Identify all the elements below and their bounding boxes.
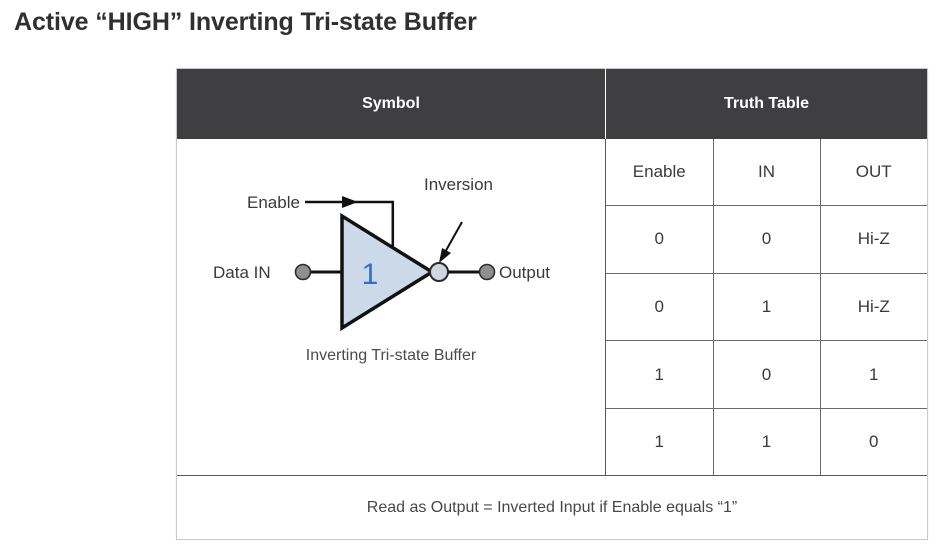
page-title: Active “HIGH” Inverting Tri-state Buffer bbox=[14, 8, 477, 37]
comparison-table: Symbol Truth Table Enable Data I bbox=[176, 68, 928, 540]
table-row: 0 1 Hi-Z bbox=[606, 273, 927, 341]
inversion-bubble-icon bbox=[430, 263, 448, 281]
enable-label: Enable bbox=[247, 193, 300, 212]
cell-out: 1 bbox=[820, 341, 927, 409]
table-body-row: Enable Data IN 1 Output bbox=[177, 139, 927, 476]
cell-enable: 1 bbox=[606, 341, 713, 409]
inversion-label: Inversion bbox=[424, 175, 493, 194]
header-cell-truth-table: Truth Table bbox=[606, 69, 927, 139]
table-header-row: Symbol Truth Table bbox=[177, 69, 927, 139]
inversion-callout-arrow-icon bbox=[439, 222, 462, 263]
column-header-out: OUT bbox=[820, 139, 927, 205]
cell-in: 1 bbox=[713, 409, 820, 475]
symbol-caption: Inverting Tri-state Buffer bbox=[306, 347, 477, 364]
cell-out: 0 bbox=[820, 409, 927, 475]
column-header-enable: Enable bbox=[606, 139, 713, 205]
cell-enable: 0 bbox=[606, 273, 713, 341]
truth-table-grid: Enable IN OUT 0 0 Hi-Z 0 1 Hi-Z bbox=[606, 139, 927, 475]
cell-out: Hi-Z bbox=[820, 273, 927, 341]
cell-in: 1 bbox=[713, 273, 820, 341]
cell-in: 0 bbox=[713, 341, 820, 409]
column-header-in: IN bbox=[713, 139, 820, 205]
buffer-triangle bbox=[342, 216, 432, 328]
table-row: 1 1 0 bbox=[606, 409, 927, 475]
data-in-label: Data IN bbox=[213, 263, 271, 282]
gate-numeral: 1 bbox=[362, 258, 379, 291]
cell-enable: 1 bbox=[606, 409, 713, 475]
output-label: Output bbox=[499, 263, 550, 282]
table-row-header: Enable IN OUT bbox=[606, 139, 927, 205]
cell-in: 0 bbox=[713, 205, 820, 273]
output-terminal bbox=[480, 265, 495, 280]
table-footer-note: Read as Output = Inverted Input if Enabl… bbox=[177, 476, 927, 539]
symbol-cell: Enable Data IN 1 Output bbox=[177, 139, 606, 476]
truth-table-cell: Enable IN OUT 0 0 Hi-Z 0 1 Hi-Z bbox=[606, 139, 927, 476]
data-in-terminal bbox=[296, 265, 311, 280]
table-row: 0 0 Hi-Z bbox=[606, 205, 927, 273]
cell-enable: 0 bbox=[606, 205, 713, 273]
table-row: 1 0 1 bbox=[606, 341, 927, 409]
cell-out: Hi-Z bbox=[820, 205, 927, 273]
header-cell-symbol: Symbol bbox=[177, 69, 606, 139]
tri-state-buffer-schematic: Enable Data IN 1 Output bbox=[177, 139, 606, 476]
